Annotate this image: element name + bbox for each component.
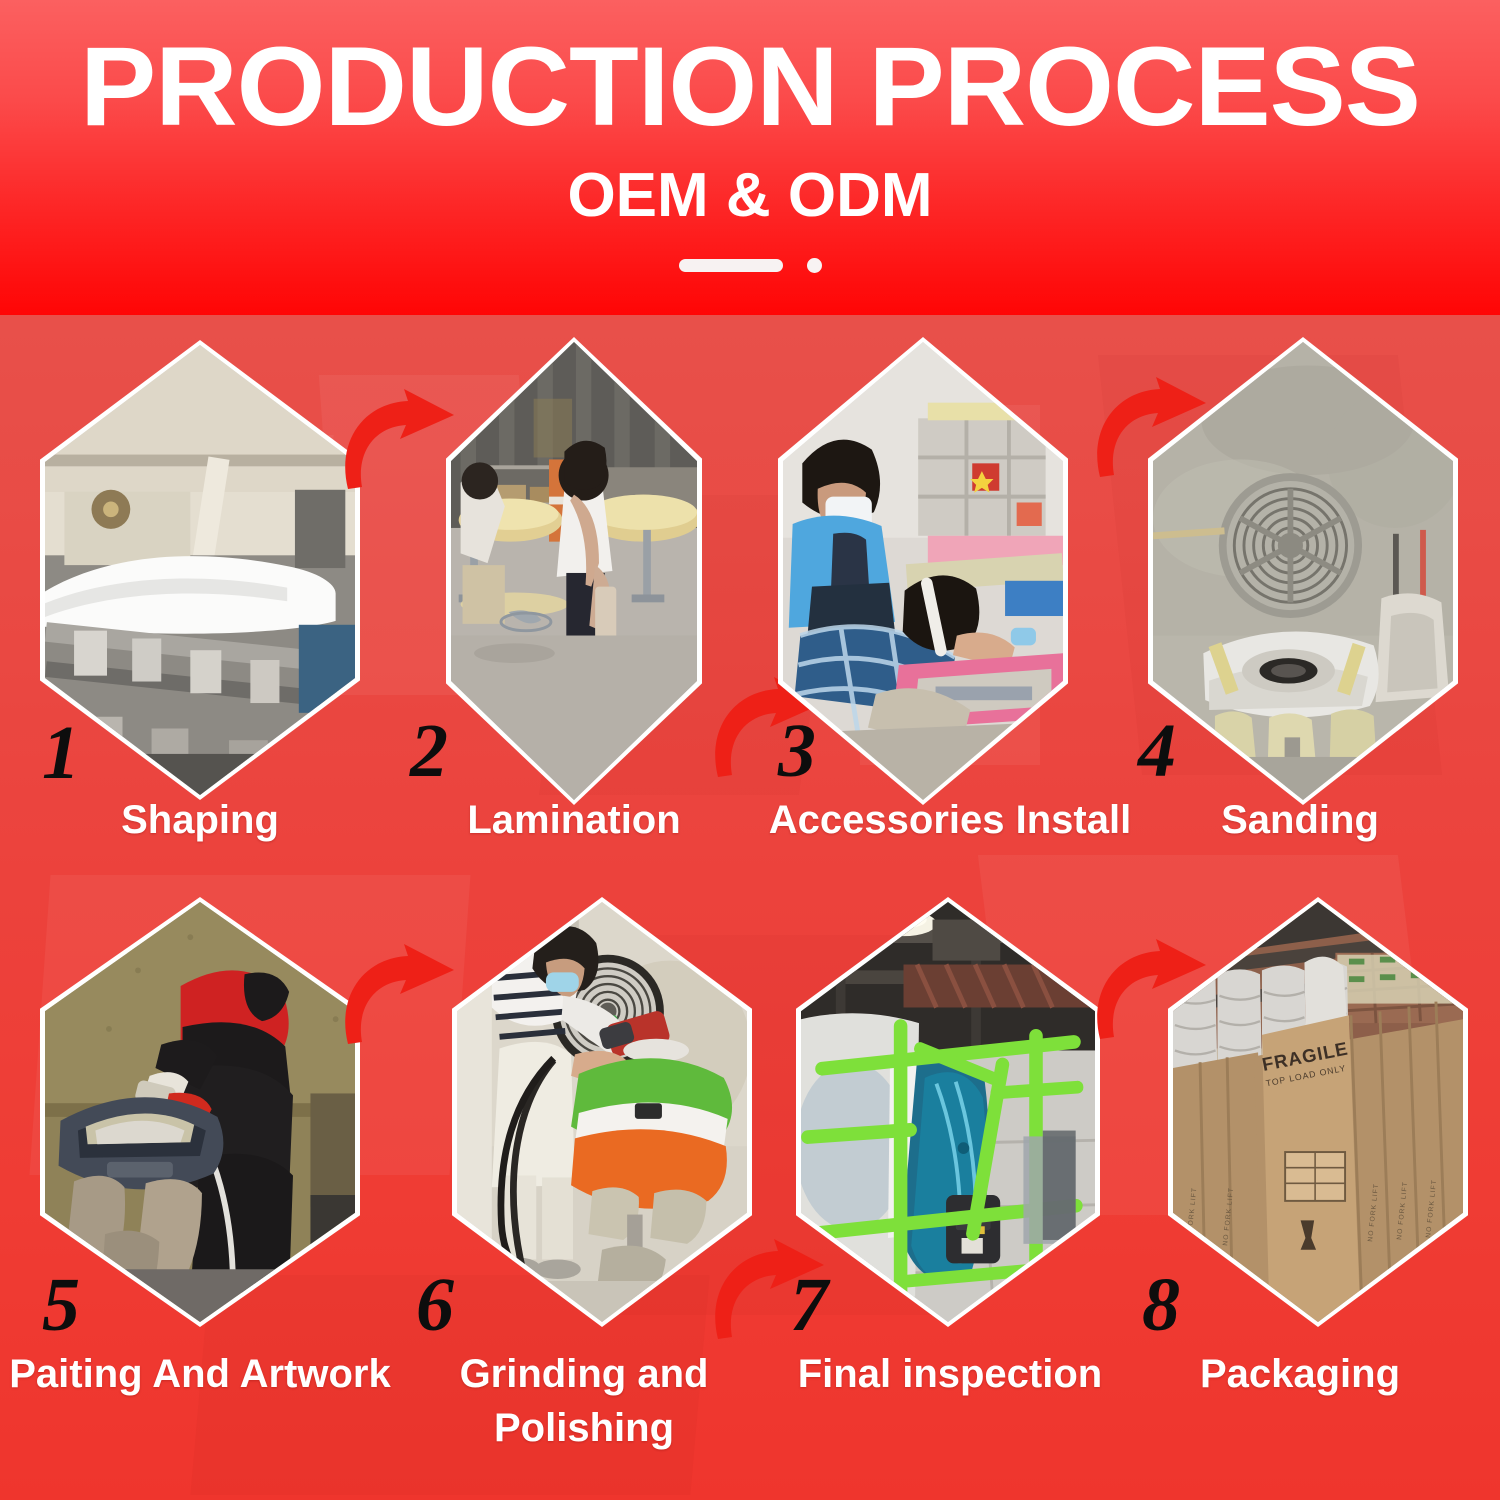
page-header: PRODUCTION PROCESS OEM & ODM bbox=[0, 0, 1500, 315]
step-6-number: 6 bbox=[416, 1267, 454, 1343]
step-8-photo: FRAGILE TOP LOAD ONLY NO FORK LIFT NO FO… bbox=[1168, 897, 1468, 1327]
step-8-label: Packaging bbox=[1120, 1347, 1480, 1401]
step-8-number: 8 bbox=[1142, 1267, 1180, 1343]
page-subtitle: OEM & ODM bbox=[0, 160, 1500, 231]
step-6-label-line-2: Polishing bbox=[494, 1406, 674, 1450]
step-6-label-line-1: Grinding and bbox=[460, 1352, 709, 1396]
page-title: PRODUCTION PROCESS bbox=[0, 28, 1500, 146]
arrow-1-to-2-icon bbox=[330, 385, 460, 495]
step-2-number: 2 bbox=[410, 713, 448, 789]
step-5-number: 5 bbox=[42, 1267, 80, 1343]
step-5-label: Paiting And Artwork bbox=[0, 1347, 400, 1401]
step-2-label: Lamination bbox=[394, 793, 754, 847]
step-4-number: 4 bbox=[1138, 713, 1176, 789]
divider-bar-icon bbox=[679, 259, 783, 272]
step-5-photo bbox=[40, 897, 360, 1327]
step-3-photo bbox=[778, 337, 1068, 805]
step-7-photo bbox=[796, 897, 1100, 1327]
step-7-label: Final inspection bbox=[740, 1347, 1160, 1401]
process-steps-grid: 1 Shaping bbox=[0, 315, 1500, 1500]
step-1-number: 1 bbox=[42, 715, 80, 791]
step-6-label: Grinding and Polishing bbox=[414, 1347, 754, 1455]
step-4-label: Sanding bbox=[1120, 793, 1480, 847]
step-3-number: 3 bbox=[778, 713, 816, 789]
step-3-label: Accessories Install bbox=[740, 793, 1160, 847]
step-2-photo bbox=[446, 337, 702, 805]
step-1-photo bbox=[40, 340, 360, 800]
step-7-number: 7 bbox=[790, 1267, 828, 1343]
arrow-5-to-6-icon bbox=[330, 940, 460, 1050]
divider-dot-icon bbox=[807, 258, 822, 273]
header-divider-decoration bbox=[0, 258, 1500, 273]
step-1-label: Shaping bbox=[20, 793, 380, 847]
step-4-photo bbox=[1148, 337, 1458, 805]
